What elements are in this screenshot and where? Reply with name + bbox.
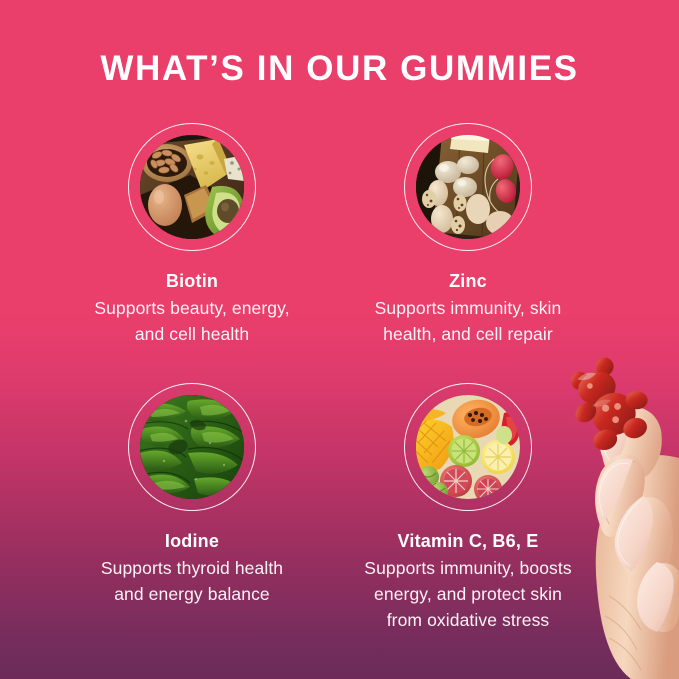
desc-line: Supports immunity, skin [318, 295, 618, 321]
ingredient-card-zinc: Zinc Supports immunity, skin health, and… [318, 123, 618, 347]
ingredient-ring-vitamins [404, 383, 532, 511]
ingredient-name: Iodine [42, 530, 342, 552]
promo-graphic: WHAT’S IN OUR GUMMIES [0, 0, 679, 679]
desc-line: Supports thyroid health [42, 555, 342, 581]
ingredient-ring-iodine [128, 383, 256, 511]
page-title: WHAT’S IN OUR GUMMIES [0, 47, 679, 91]
desc-line: Supports beauty, energy, [42, 295, 342, 321]
hand-holding-gummy-bear [557, 338, 679, 679]
seaweed-leafy-greens-photo [140, 395, 244, 499]
ingredient-ring-zinc [404, 123, 532, 251]
ingredient-name: Biotin [42, 270, 342, 292]
ingredient-card-biotin: Biotin Supports beauty, energy, and cell… [42, 123, 342, 347]
ingredient-description: Supports beauty, energy, and cell health [42, 295, 342, 347]
mango-papaya-citrus-fruit-photo [416, 395, 520, 499]
ingredient-description: Supports thyroid health and energy balan… [42, 555, 342, 607]
ingredient-card-iodine: Iodine Supports thyroid health and energ… [42, 383, 342, 607]
almonds-egg-cheese-avocado-photo [140, 135, 244, 239]
mushrooms-quail-eggs-radish-photo [416, 135, 520, 239]
ingredient-ring-biotin [128, 123, 256, 251]
ingredient-name: Zinc [318, 270, 618, 292]
desc-line: and cell health [42, 321, 342, 347]
desc-line: and energy balance [42, 581, 342, 607]
